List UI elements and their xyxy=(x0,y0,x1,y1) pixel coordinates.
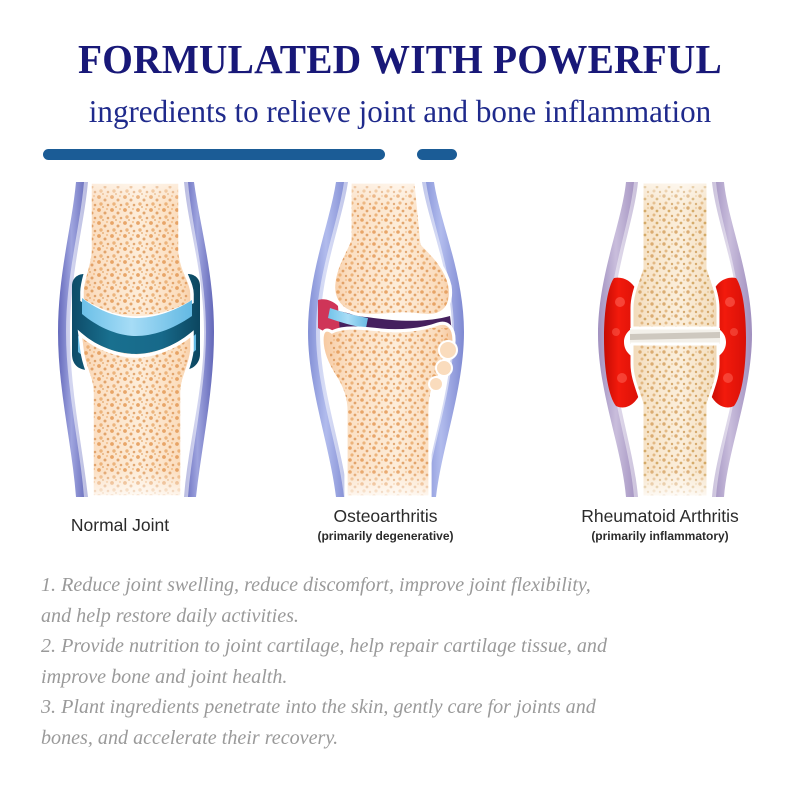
benefit-line: bones, and accelerate their recovery. xyxy=(41,723,727,754)
rheumatoid-arthritis-joint-illustration xyxy=(590,182,760,497)
benefit-line: 2. Provide nutrition to joint cartilage,… xyxy=(41,631,727,662)
caption-normal-joint: Normal Joint xyxy=(20,505,220,527)
divider-group xyxy=(0,149,800,163)
page-subtitle: ingredients to relieve joint and bone in… xyxy=(12,91,788,131)
caption-title: Rheumatoid Arthritis xyxy=(540,505,780,527)
page-title: FORMULATED WITH POWERFUL xyxy=(16,36,784,82)
caption-group: Normal Joint Osteoarthritis (primarily d… xyxy=(0,505,800,553)
divider-bar-short xyxy=(417,149,457,160)
normal-joint-illustration xyxy=(32,182,237,497)
osteophyte-spur xyxy=(429,377,443,391)
promo-page: FORMULATED WITH POWERFUL ingredients to … xyxy=(0,0,800,800)
caption-rheumatoid-arthritis: Rheumatoid Arthritis (primarily inflamma… xyxy=(540,505,780,544)
osteophyte-spur xyxy=(436,360,452,376)
joint-illustration-group xyxy=(0,182,800,497)
caption-subtitle: (primarily degenerative) xyxy=(283,528,488,544)
benefit-line: 1. Reduce joint swelling, reduce discomf… xyxy=(41,570,727,601)
benefit-line: 3. Plant ingredients penetrate into the … xyxy=(41,692,727,723)
benefit-line: improve bone and joint health. xyxy=(41,662,727,693)
caption-subtitle: (primarily inflammatory) xyxy=(540,528,780,544)
caption-title: Normal Joint xyxy=(20,514,220,536)
caption-title: Osteoarthritis xyxy=(283,505,488,527)
heading-block: FORMULATED WITH POWERFUL ingredients to … xyxy=(0,36,800,131)
osteophyte-spur xyxy=(439,341,457,359)
benefits-list: 1. Reduce joint swelling, reduce discomf… xyxy=(41,570,727,753)
osteoarthritis-joint-illustration xyxy=(288,182,483,497)
divider-bar-long xyxy=(43,149,385,160)
benefit-line: and help restore daily activities. xyxy=(41,601,727,632)
caption-osteoarthritis: Osteoarthritis (primarily degenerative) xyxy=(283,505,488,544)
